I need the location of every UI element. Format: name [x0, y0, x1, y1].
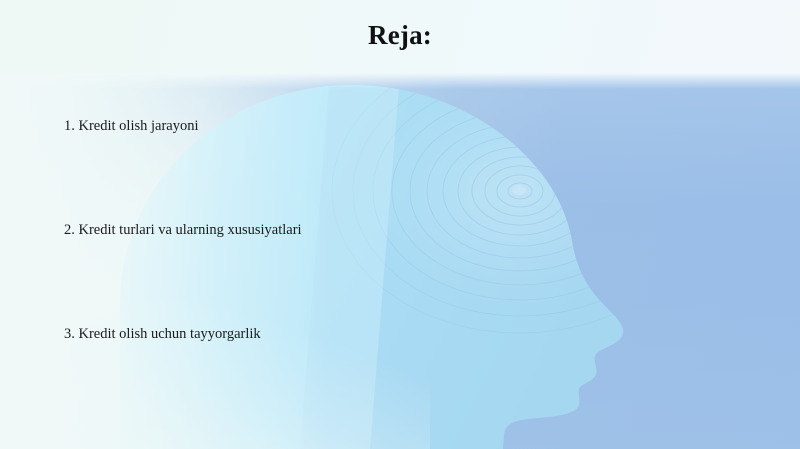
artwork-top-feather: [0, 73, 800, 89]
agenda-item-2: 2. Kredit turlari va ularning xususiyatl…: [64, 222, 584, 326]
agenda-item-1: 1. Kredit olish jarayoni: [64, 118, 584, 222]
agenda-list: 1. Kredit olish jarayoni 2. Kredit turla…: [64, 118, 584, 343]
presentation-slide: Reja: 1. Kredit olish jarayoni 2. Kredit…: [0, 0, 800, 449]
slide-title: Reja:: [0, 20, 800, 51]
agenda-item-3: 3. Kredit olish uchun tayyorgarlik: [64, 326, 584, 343]
